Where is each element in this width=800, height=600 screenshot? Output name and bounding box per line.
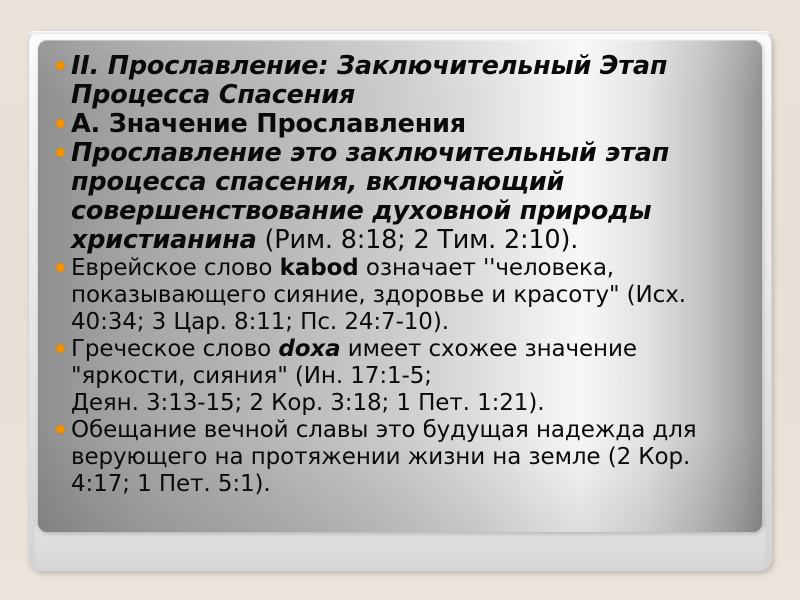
- bullet-definition-text: Прославление это заключительный этап про…: [71, 139, 746, 255]
- slide-lower-panel: [35, 527, 765, 569]
- bullet-heading-1-run-0: II. Прославление: Заключительный Этап Пр…: [71, 51, 676, 110]
- bullet-heading-2: А. Значение Прославления: [56, 110, 746, 139]
- bullet-heading-1: II. Прославление: Заключительный Этап Пр…: [56, 52, 746, 110]
- bullet-doxa-text: Греческое слово doxa имеет схожее значен…: [71, 336, 746, 417]
- bullet-marker-icon: [56, 263, 65, 272]
- bullet-marker-icon: [56, 344, 65, 353]
- bullet-marker-icon: [56, 61, 65, 70]
- bullet-promise-text: Обещание вечной славы это будущая надежд…: [71, 417, 746, 498]
- bullet-definition: Прославление это заключительный этап про…: [56, 139, 746, 255]
- bullet-list: II. Прославление: Заключительный Этап Пр…: [56, 52, 746, 498]
- bullet-promise-run-0: Обещание вечной славы это будущая надежд…: [71, 417, 704, 497]
- bullet-heading-2-text: А. Значение Прославления: [71, 110, 746, 139]
- bullet-doxa: Греческое слово doxa имеет схожее значен…: [56, 336, 746, 417]
- bullet-marker-icon: [56, 148, 65, 157]
- bullet-doxa-run-0: Греческое слово: [71, 336, 278, 362]
- bullet-heading-2-run-0: А. Значение Прославления: [71, 109, 466, 139]
- bullet-definition-run-1: (Рим. 8:18; 2 Тим. 2:10).: [257, 225, 578, 255]
- bullet-heading-1-text: II. Прославление: Заключительный Этап Пр…: [71, 52, 746, 110]
- bullet-marker-icon: [56, 425, 65, 434]
- bullet-kabod-run-1: kabod: [280, 255, 359, 281]
- bullet-marker-icon: [56, 119, 65, 128]
- slide-root: II. Прославление: Заключительный Этап Пр…: [0, 0, 800, 600]
- bullet-doxa-run-1: doxa: [278, 336, 340, 362]
- bullet-kabod: Еврейское слово kabod означает ''человек…: [56, 255, 746, 336]
- bullet-kabod-text: Еврейское слово kabod означает ''человек…: [71, 255, 746, 336]
- bullet-promise: Обещание вечной славы это будущая надежд…: [56, 417, 746, 498]
- bullet-kabod-run-0: Еврейское слово: [71, 255, 280, 281]
- frame-top-highlight: [29, 31, 771, 34]
- slide-content-panel: II. Прославление: Заключительный Этап Пр…: [38, 40, 762, 532]
